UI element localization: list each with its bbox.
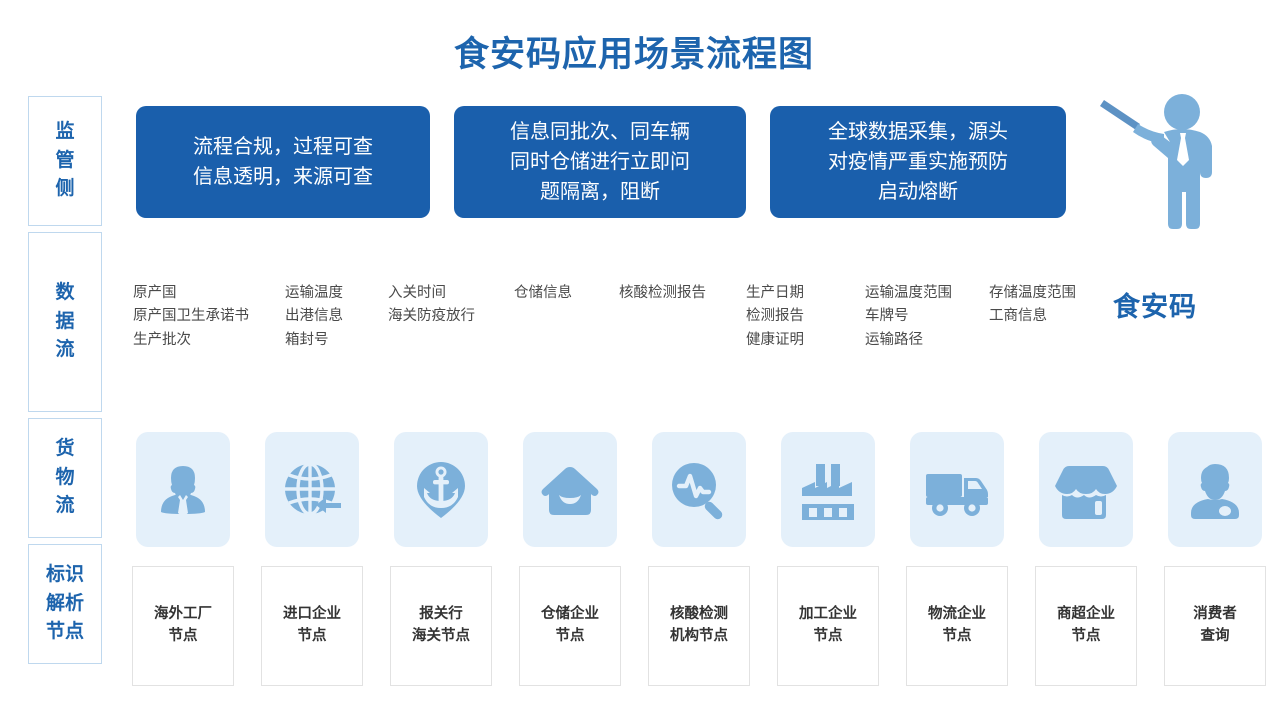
node-label-line: 机构节点 xyxy=(670,626,728,648)
sidebar-label-line: 监 xyxy=(55,118,74,147)
anchor-port-icon[interactable] xyxy=(394,432,488,547)
node-label-line: 商超企业 xyxy=(1057,604,1115,626)
banner-global-collection[interactable]: 全球数据采集，源头 对疫情严重实施预防 启动熔断 xyxy=(770,106,1066,218)
sidebar-item-data-flow[interactable]: 数 据 流 xyxy=(28,232,102,412)
banner-line: 启动熔断 xyxy=(828,177,1008,207)
data-line: 原产国卫生承诺书 xyxy=(133,305,249,328)
truck-icon[interactable] xyxy=(910,432,1004,547)
data-line: 存储温度范围 xyxy=(989,282,1076,305)
page-title: 食安码应用场景流程图 xyxy=(0,26,1268,77)
data-line: 车牌号 xyxy=(865,305,952,328)
data-line: 入关时间 xyxy=(388,282,475,305)
banner-line: 信息同批次、同车辆 xyxy=(510,117,690,147)
data-line: 工商信息 xyxy=(989,305,1076,328)
node-consumer-query[interactable]: 消费者 查询 xyxy=(1164,566,1266,686)
data-line: 海关防疫放行 xyxy=(388,305,475,328)
banner-line: 信息透明，来源可查 xyxy=(193,162,373,192)
sidebar-label-line: 数 xyxy=(55,279,74,308)
magnifier-pulse-icon[interactable] xyxy=(652,432,746,547)
data-line: 仓储信息 xyxy=(514,282,572,305)
data-line: 运输路径 xyxy=(865,329,952,352)
node-label-line: 节点 xyxy=(799,626,857,648)
banner-line: 流程合规，过程可查 xyxy=(193,132,373,162)
node-label-line: 海外工厂 xyxy=(154,604,212,626)
regulator-banner-row: 流程合规，过程可查 信息透明，来源可查 信息同批次、同车辆 同时仓储进行立即问 … xyxy=(136,106,1066,218)
sidebar-item-goods-flow[interactable]: 货 物 流 xyxy=(28,418,102,538)
node-label-line: 节点 xyxy=(928,626,986,648)
node-label-line: 核酸检测 xyxy=(670,604,728,626)
data-transport-temp-range: 运输温度范围 车牌号 运输路径 xyxy=(865,282,952,352)
data-flow-row: 原产国 原产国卫生承诺书 生产批次 运输温度 出港信息 箱封号 入关时间 海关防… xyxy=(133,282,1133,392)
row-label-sidebar: 监 管 侧 数 据 流 货 物 流 标识 解析 节点 xyxy=(28,96,102,664)
consumer-person-icon[interactable] xyxy=(1168,432,1262,547)
node-label-line: 进口企业 xyxy=(283,604,341,626)
data-line: 原产国 xyxy=(133,282,249,305)
node-label-line: 海关节点 xyxy=(412,626,470,648)
data-line: 检测报告 xyxy=(746,305,804,328)
data-line: 生产日期 xyxy=(746,282,804,305)
sidebar-item-regulator-side[interactable]: 监 管 侧 xyxy=(28,96,102,226)
data-nucleic-acid-report: 核酸检测报告 xyxy=(619,282,706,305)
factory-icon[interactable] xyxy=(781,432,875,547)
node-overseas-factory[interactable]: 海外工厂 节点 xyxy=(132,566,234,686)
data-storage-temp-range: 存储温度范围 工商信息 xyxy=(989,282,1076,329)
sidebar-label-line: 管 xyxy=(55,147,74,176)
sidebar-item-identifier-resolution-node[interactable]: 标识 解析 节点 xyxy=(28,544,102,664)
banner-line: 同时仓储进行立即问 xyxy=(510,147,690,177)
node-retail-enterprise[interactable]: 商超企业 节点 xyxy=(1035,566,1137,686)
node-logistics-enterprise[interactable]: 物流企业 节点 xyxy=(906,566,1008,686)
node-label-line: 加工企业 xyxy=(799,604,857,626)
node-processing-enterprise[interactable]: 加工企业 节点 xyxy=(777,566,879,686)
data-line: 核酸检测报告 xyxy=(619,282,706,305)
node-import-enterprise[interactable]: 进口企业 节点 xyxy=(261,566,363,686)
sidebar-label-line: 标识 xyxy=(46,561,84,590)
node-label-line: 节点 xyxy=(154,626,212,648)
sidebar-label-line: 据 xyxy=(55,308,74,337)
data-line: 生产批次 xyxy=(133,329,249,352)
data-production-date: 生产日期 检测报告 健康证明 xyxy=(746,282,804,352)
sidebar-label-line: 侧 xyxy=(55,175,74,204)
node-label-line: 节点 xyxy=(283,626,341,648)
storefront-icon[interactable] xyxy=(1039,432,1133,547)
banner-line: 题隔离，阻断 xyxy=(510,177,690,207)
node-warehouse-enterprise[interactable]: 仓储企业 节点 xyxy=(519,566,621,686)
sidebar-label-line: 流 xyxy=(55,492,74,521)
sidebar-label-line: 货 xyxy=(55,435,74,464)
data-warehouse-info: 仓储信息 xyxy=(514,282,572,305)
data-origin-country: 原产国 原产国卫生承诺书 生产批次 xyxy=(133,282,249,352)
warehouse-house-icon[interactable] xyxy=(523,432,617,547)
sidebar-label-line: 解析 xyxy=(46,590,84,619)
data-line: 运输温度范围 xyxy=(865,282,952,305)
data-line: 健康证明 xyxy=(746,329,804,352)
node-nucleic-acid-institution[interactable]: 核酸检测 机构节点 xyxy=(648,566,750,686)
data-line: 出港信息 xyxy=(285,305,343,328)
node-label-line: 节点 xyxy=(541,626,599,648)
brand-label-shianma: 食安码 xyxy=(1113,285,1197,324)
banner-process-compliance[interactable]: 流程合规，过程可查 信息透明，来源可查 xyxy=(136,106,430,218)
node-label-line: 消费者 xyxy=(1193,604,1237,626)
node-row: 海外工厂 节点 进口企业 节点 报关行 海关节点 仓储企业 节点 核酸检测 机构… xyxy=(132,566,1262,686)
sidebar-label-line: 节点 xyxy=(46,618,84,647)
globe-import-arrow-icon[interactable] xyxy=(265,432,359,547)
node-label-line: 查询 xyxy=(1193,626,1237,648)
banner-line: 全球数据采集，源头 xyxy=(828,117,1008,147)
data-transport-temperature: 运输温度 出港信息 箱封号 xyxy=(285,282,343,352)
data-line: 运输温度 xyxy=(285,282,343,305)
node-label-line: 物流企业 xyxy=(928,604,986,626)
node-label-line: 仓储企业 xyxy=(541,604,599,626)
businessman-icon[interactable] xyxy=(136,432,230,547)
data-customs-entry: 入关时间 海关防疫放行 xyxy=(388,282,475,329)
node-customs-broker[interactable]: 报关行 海关节点 xyxy=(390,566,492,686)
presenter-pointer-figure xyxy=(1094,86,1254,231)
banner-line: 对疫情严重实施预防 xyxy=(828,147,1008,177)
node-label-line: 报关行 xyxy=(412,604,470,626)
data-line: 箱封号 xyxy=(285,329,343,352)
goods-flow-icon-row xyxy=(136,432,1256,547)
sidebar-label-line: 流 xyxy=(55,336,74,365)
banner-batch-vehicle[interactable]: 信息同批次、同车辆 同时仓储进行立即问 题隔离，阻断 xyxy=(454,106,746,218)
sidebar-label-line: 物 xyxy=(55,464,74,493)
node-label-line: 节点 xyxy=(1057,626,1115,648)
